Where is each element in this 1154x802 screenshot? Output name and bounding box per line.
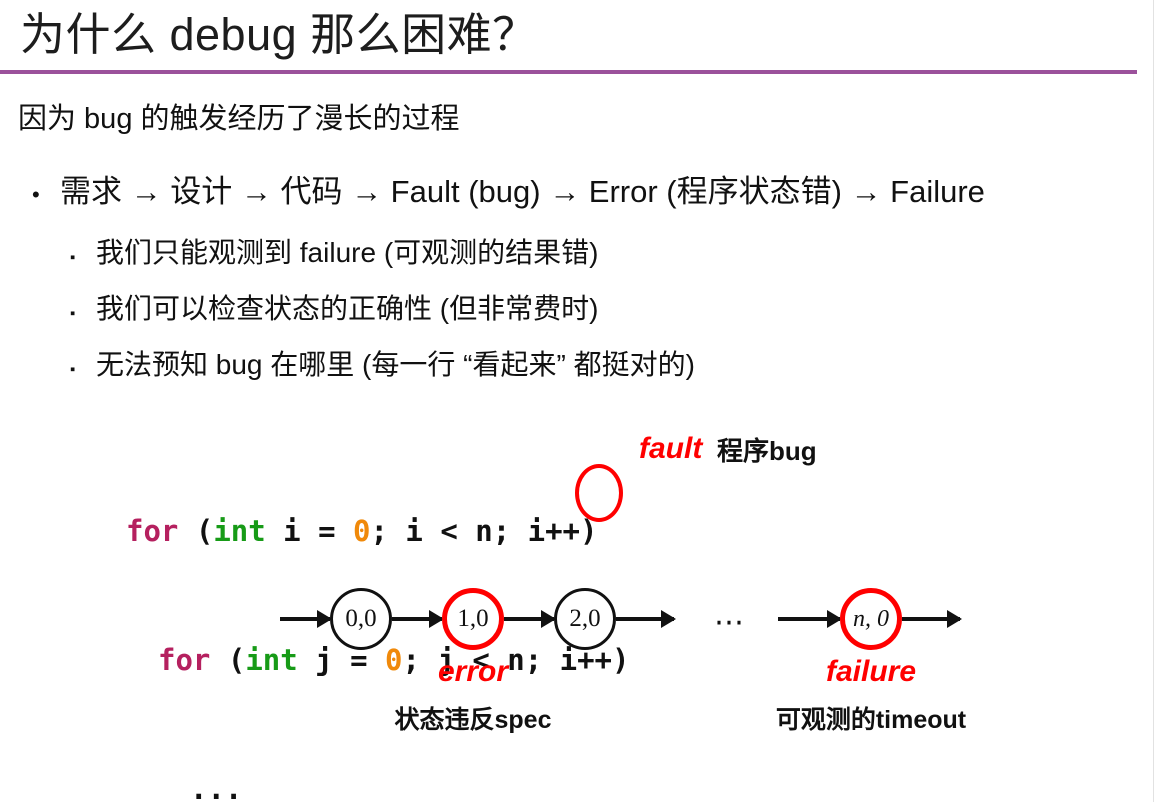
arrow-out-of-state-2	[616, 617, 674, 621]
bullet-marker-square: ▪	[70, 349, 96, 391]
bullet-level2-1-label: 我们只能观测到 failure (可观测的结果错)	[96, 232, 598, 274]
bullet-marker-square: ▪	[70, 293, 96, 335]
page-title: 为什么 debug 那么困难？	[20, 6, 538, 64]
state-node-n-label: n, 0	[853, 606, 889, 633]
failure-label: failure	[811, 655, 931, 689]
bullet-level2-3: ▪ 无法预知 bug 在哪里 (每一行 “看起来” 都挺对的)	[70, 344, 695, 391]
bullet-level2-3-label: 无法预知 bug 在哪里 (每一行 “看起来” 都挺对的)	[96, 344, 695, 386]
arrow-1-to-2	[504, 617, 554, 621]
bullet-level2-2: ▪ 我们可以检查状态的正确性 (但非常费时)	[70, 288, 598, 335]
state-node-2: 2,0	[554, 588, 616, 650]
failure-caption: 可观测的timeout	[751, 700, 991, 736]
code-line-3: ...	[190, 768, 629, 802]
code-text: ; i < n; i++)	[370, 514, 597, 548]
lead-text: 因为 bug 的触发经历了漫长的过程	[18, 99, 460, 139]
bullet-level2-1: ▪ 我们只能观测到 failure (可观测的结果错)	[70, 232, 598, 279]
slide-canvas: 为什么 debug 那么困难？ 因为 bug 的触发经历了漫长的过程 • 需求 …	[0, 0, 1154, 802]
state-node-1-error: 1,0	[442, 588, 504, 650]
state-diagram: 0,0 1,0 2,0 ⋯ n, 0 error 状态违反spec failur…	[0, 560, 1154, 690]
code-keyword-for: for	[126, 514, 178, 548]
state-node-n-failure: n, 0	[840, 588, 902, 650]
bullet-level1: • 需求 → 设计 → 代码 → Fault (bug) → Error (程序…	[32, 170, 985, 217]
fault-annotation-label: fault	[639, 429, 702, 469]
bullet-marker-dot: •	[32, 173, 60, 217]
bullet-level2-2-label: 我们可以检查状态的正确性 (但非常费时)	[96, 288, 598, 330]
code-type-int: int	[213, 514, 265, 548]
arrow-0-to-1	[392, 617, 442, 621]
arrow-out-of-state-n	[902, 617, 960, 621]
code-text: i =	[266, 514, 353, 548]
state-node-1-label: 1,0	[457, 605, 488, 633]
arrow-into-state-0	[280, 617, 330, 621]
code-punct: (	[178, 514, 213, 548]
fault-annotation-caption: 程序bug	[717, 432, 817, 470]
state-node-0: 0,0	[330, 588, 392, 650]
arrow-into-state-n	[778, 617, 840, 621]
state-node-2-label: 2,0	[569, 605, 600, 633]
error-label: error	[413, 655, 533, 689]
state-node-0-label: 0,0	[345, 605, 376, 633]
bullet-marker-square: ▪	[70, 237, 96, 279]
code-number-zero: 0	[353, 514, 370, 548]
bullet-level1-label: 需求 → 设计 → 代码 → Fault (bug) → Error (程序状态…	[60, 170, 985, 214]
title-divider	[0, 70, 1137, 74]
bug-highlight-ellipse-icon	[575, 464, 623, 522]
error-caption: 状态违反spec	[353, 700, 593, 736]
code-line-1: for (int i = 0; i < n; i++)	[126, 510, 629, 553]
diagram-ellipsis: ⋯	[714, 608, 747, 638]
